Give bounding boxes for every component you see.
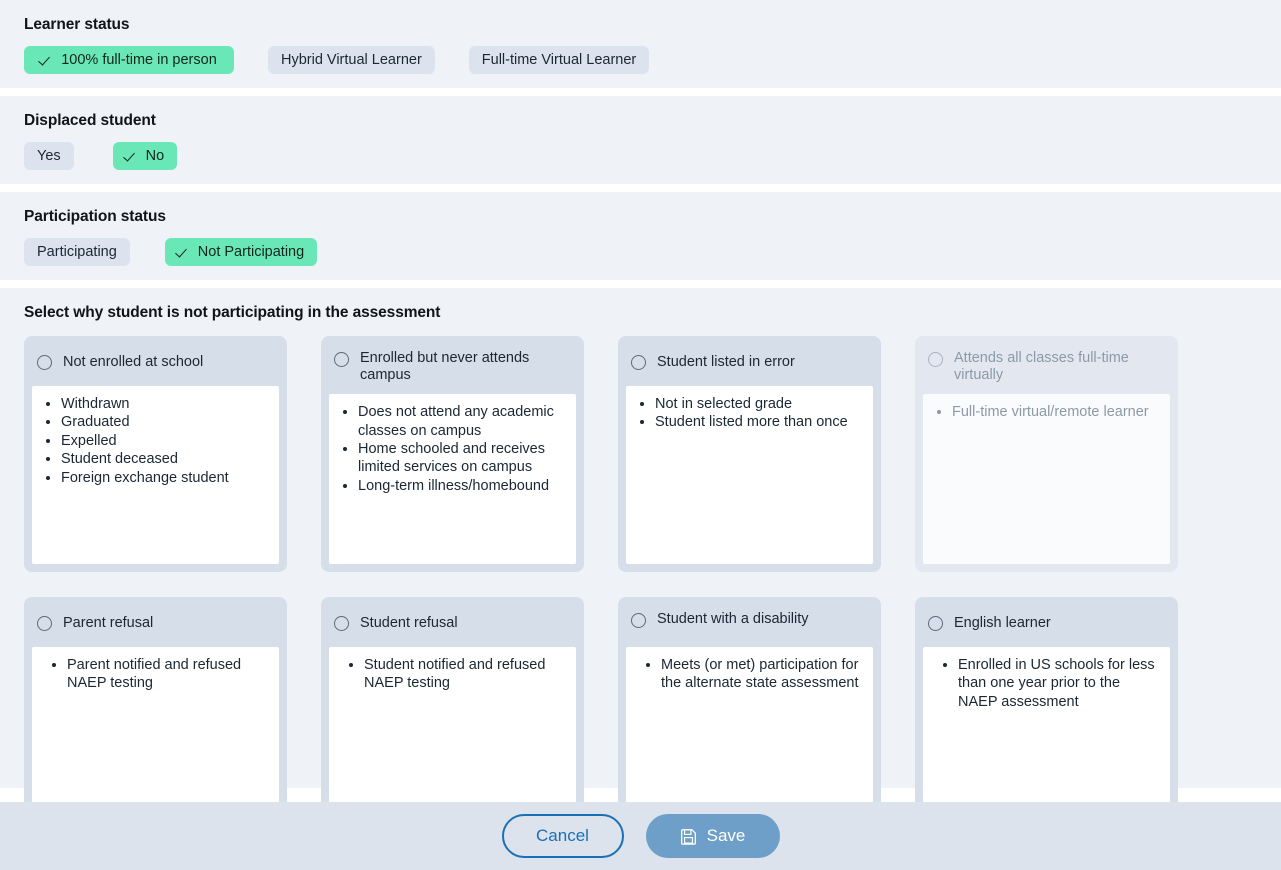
reason-card-student-listed-in-error[interactable]: Student listed in errorNot in selected g… xyxy=(618,336,881,572)
pill-label: Not Participating xyxy=(198,245,304,260)
section-divider xyxy=(0,88,1281,96)
save-button-label: Save xyxy=(707,826,746,846)
reason-card-enrolled-but-never-attends-campus[interactable]: Enrolled but never attends campusDoes no… xyxy=(321,336,584,572)
reason-card-details: Full-time virtual/remote learner xyxy=(923,394,1170,564)
reason-card-label: Parent refusal xyxy=(63,614,153,632)
radio-button-icon[interactable] xyxy=(631,355,646,370)
reason-card-details: Enrolled in US schools for less than one… xyxy=(923,647,1170,825)
radio-button-icon[interactable] xyxy=(631,613,646,628)
reason-bullet-item: Student deceased xyxy=(61,450,269,468)
reason-bullet-item: Foreign exchange student xyxy=(61,469,269,487)
reason-card-header: Enrolled but never attends campus xyxy=(329,344,576,394)
reason-card-header: Parent refusal xyxy=(32,605,279,647)
reason-bullet-item: Enrolled in US schools for less than one… xyxy=(958,656,1160,711)
participation-status-title: Participation status xyxy=(24,208,1281,226)
reason-bullet-list: Full-time virtual/remote learner xyxy=(931,403,1160,421)
reason-card-details: Student notified and refused NAEP testin… xyxy=(329,647,576,825)
reason-card-english-learner[interactable]: English learnerEnrolled in US schools fo… xyxy=(915,597,1178,833)
participation-status-option-participating[interactable]: Participating xyxy=(24,238,130,266)
reason-card-header: Student refusal xyxy=(329,605,576,647)
reason-card-label: Enrolled but never attends campus xyxy=(360,349,572,384)
displaced-student-section: Displaced student YesNo xyxy=(0,96,1281,184)
reason-bullet-list: WithdrawnGraduatedExpelledStudent deceas… xyxy=(40,395,269,487)
reason-bullet-item: Long-term illness/homebound xyxy=(358,477,566,495)
check-icon xyxy=(126,150,139,163)
reason-bullet-item: Full-time virtual/remote learner xyxy=(952,403,1160,421)
reason-bullet-item: Student listed more than once xyxy=(655,413,863,431)
save-button[interactable]: Save xyxy=(646,814,780,858)
reason-card-label: Student with a disability xyxy=(657,610,809,628)
participation-status-section: Participation status ParticipatingNot Pa… xyxy=(0,192,1281,280)
reason-card-student-refusal[interactable]: Student refusalStudent notified and refu… xyxy=(321,597,584,833)
learner-status-section: Learner status 100% full-time in personH… xyxy=(0,0,1281,88)
reason-bullet-list: Parent notified and refused NAEP testing xyxy=(40,656,269,693)
reasons-title: Select why student is not participating … xyxy=(24,304,1281,322)
radio-button-icon[interactable] xyxy=(37,616,52,631)
check-icon xyxy=(41,54,54,67)
reason-bullet-item: Withdrawn xyxy=(61,395,269,413)
reason-card-header: English learner xyxy=(923,605,1170,647)
reason-bullet-list: Does not attend any academic classes on … xyxy=(337,403,566,495)
displaced-student-option-no[interactable]: No xyxy=(113,142,178,170)
reason-card-header: Attends all classes full-time virtually xyxy=(923,344,1170,394)
pill-label: Yes xyxy=(37,149,61,164)
floppy-disk-icon xyxy=(680,828,697,845)
non-participation-reasons-section: Select why student is not participating … xyxy=(0,288,1281,788)
displaced-student-title: Displaced student xyxy=(24,112,1281,130)
reason-card-not-enrolled-at-school[interactable]: Not enrolled at schoolWithdrawnGraduated… xyxy=(24,336,287,572)
learner-status-title: Learner status xyxy=(24,16,1281,34)
pill-label: Full-time Virtual Learner xyxy=(482,53,636,68)
reason-card-label: Student refusal xyxy=(360,614,458,632)
learner-status-option-full-time-virtual-learner[interactable]: Full-time Virtual Learner xyxy=(469,46,649,74)
learner-status-option-hybrid-virtual-learner[interactable]: Hybrid Virtual Learner xyxy=(268,46,435,74)
reason-card-details: Does not attend any academic classes on … xyxy=(329,394,576,564)
displaced-student-options: YesNo xyxy=(24,142,1281,170)
reason-bullet-item: Parent notified and refused NAEP testing xyxy=(67,656,269,693)
reason-card-details: Meets (or met) participation for the alt… xyxy=(626,647,873,825)
reason-card-label: English learner xyxy=(954,614,1051,632)
section-divider xyxy=(0,280,1281,288)
reason-bullet-list: Enrolled in US schools for less than one… xyxy=(931,656,1160,711)
reason-bullet-item: Student notified and refused NAEP testin… xyxy=(364,656,566,693)
form-action-bar: Cancel Save xyxy=(0,802,1281,870)
reason-card-label: Attends all classes full-time virtually xyxy=(954,349,1166,384)
reason-card-header: Not enrolled at school xyxy=(32,344,279,386)
reason-card-label: Not enrolled at school xyxy=(63,353,203,371)
reason-bullet-item: Expelled xyxy=(61,432,269,450)
pill-label: Participating xyxy=(37,245,117,260)
reason-bullet-list: Student notified and refused NAEP testin… xyxy=(337,656,566,693)
pill-label: No xyxy=(146,149,165,164)
radio-button-icon[interactable] xyxy=(334,352,349,367)
reason-bullet-list: Not in selected gradeStudent listed more… xyxy=(634,395,863,432)
displaced-student-option-yes[interactable]: Yes xyxy=(24,142,74,170)
reason-card-student-with-a-disability[interactable]: Student with a disabilityMeets (or met) … xyxy=(618,597,881,833)
learner-status-options: 100% full-time in personHybrid Virtual L… xyxy=(24,46,1281,74)
learner-status-option-100-full-time-in-person[interactable]: 100% full-time in person xyxy=(24,46,234,74)
reason-card-label: Student listed in error xyxy=(657,353,795,371)
pill-label: Hybrid Virtual Learner xyxy=(281,53,422,68)
section-divider xyxy=(0,184,1281,192)
radio-button-icon[interactable] xyxy=(334,616,349,631)
check-icon xyxy=(178,246,191,259)
reason-bullet-item: Does not attend any academic classes on … xyxy=(358,403,566,440)
participation-status-options: ParticipatingNot Participating xyxy=(24,238,1281,266)
reason-card-details: Parent notified and refused NAEP testing xyxy=(32,647,279,825)
reason-card-header: Student listed in error xyxy=(626,344,873,386)
radio-button-icon[interactable] xyxy=(37,355,52,370)
reason-card-parent-refusal[interactable]: Parent refusalParent notified and refuse… xyxy=(24,597,287,833)
reason-bullet-item: Graduated xyxy=(61,413,269,431)
reason-card-details: Not in selected gradeStudent listed more… xyxy=(626,386,873,564)
cancel-button[interactable]: Cancel xyxy=(502,814,624,858)
reason-card-attends-all-classes-full-time-virtually: Attends all classes full-time virtuallyF… xyxy=(915,336,1178,572)
participation-status-option-not-participating[interactable]: Not Participating xyxy=(165,238,317,266)
reason-card-header: Student with a disability xyxy=(626,605,873,647)
reason-bullet-item: Meets (or met) participation for the alt… xyxy=(661,656,863,693)
reason-bullet-list: Meets (or met) participation for the alt… xyxy=(634,656,863,693)
radio-button-icon[interactable] xyxy=(928,616,943,631)
radio-button-icon xyxy=(928,352,943,367)
reason-cards-grid: Not enrolled at schoolWithdrawnGraduated… xyxy=(24,336,1281,833)
reason-bullet-item: Home schooled and receives limited servi… xyxy=(358,440,566,477)
reason-bullet-item: Not in selected grade xyxy=(655,395,863,413)
reason-card-details: WithdrawnGraduatedExpelledStudent deceas… xyxy=(32,386,279,564)
pill-label: 100% full-time in person xyxy=(61,53,217,68)
